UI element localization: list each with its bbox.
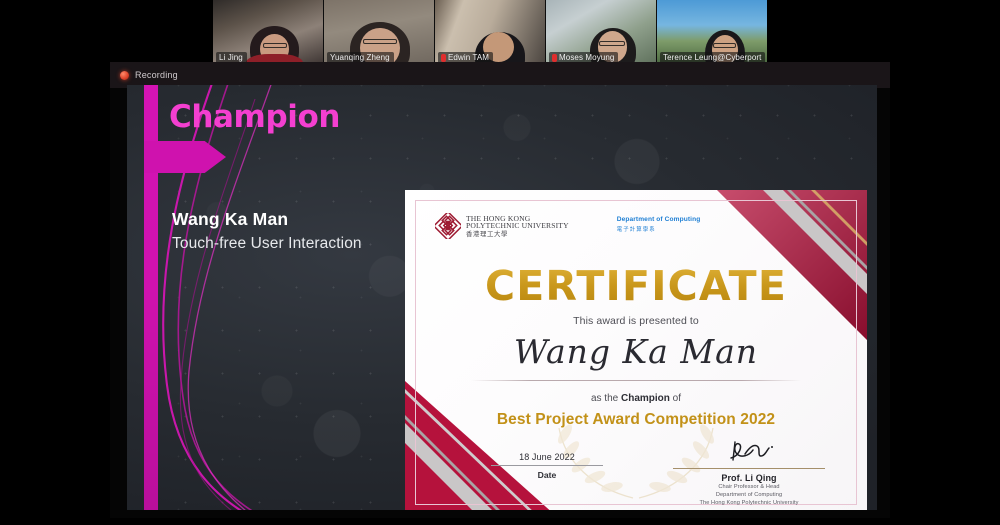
rank-value: Champion — [621, 393, 670, 404]
participant-tile[interactable]: Li Jing — [213, 0, 323, 66]
recording-label: Recording — [135, 70, 178, 80]
certificate-recipient-name: Wang Ka Man — [405, 332, 867, 371]
certificate-date-label: Date — [491, 470, 603, 480]
mic-muted-icon — [552, 54, 557, 62]
decorative-shape — [713, 43, 736, 48]
department-name: Department of Computing — [617, 216, 701, 223]
signatory-organization: The Hong Kong Polytechnic University — [673, 499, 825, 507]
participant-tile[interactable]: Edwin TAM — [435, 0, 545, 66]
certificate-date-value: 18 June 2022 — [491, 452, 603, 462]
certificate-divider — [471, 380, 801, 381]
zoom-share-window: Recording Champion Wang Ka Man Touch-fre… — [110, 62, 890, 518]
certificate: THE HONG KONG POLYTECHNIC UNIVERSITY 香港理… — [405, 190, 867, 510]
winner-name: Wang Ka Man — [172, 209, 288, 230]
certificate-rank-line: as the Champion of — [405, 393, 867, 404]
screen: Li Jing Yuanqing Zheng Edwin TAM — [0, 0, 1000, 525]
decorative-shape — [599, 41, 625, 46]
polyu-logo-icon — [435, 213, 461, 239]
signature-underline — [673, 468, 825, 469]
signatory-department: Department of Computing — [673, 491, 825, 499]
date-underline — [491, 465, 603, 466]
participant-tile[interactable]: Terence Leung@Cyberport — [657, 0, 767, 66]
certificate-title: CERTIFICATE — [405, 262, 867, 310]
record-dot-icon — [120, 71, 129, 80]
project-title: Touch-free User Interaction — [172, 235, 362, 253]
decorative-shape — [263, 43, 287, 48]
certificate-award-name: Best Project Award Competition 2022 — [405, 411, 867, 429]
signatory-name: Prof. Li Qing — [673, 473, 825, 483]
certificate-date-block: 18 June 2022 Date — [491, 452, 603, 480]
signatory-title: Chair Professor & Head — [673, 483, 825, 491]
participant-tile[interactable]: Moses Moyung — [546, 0, 656, 66]
certificate-header: THE HONG KONG POLYTECHNIC UNIVERSITY 香港理… — [435, 213, 835, 239]
slide-heading: Champion — [169, 99, 340, 135]
mic-muted-icon — [441, 54, 446, 62]
polyu-wordmark: THE HONG KONG POLYTECHNIC UNIVERSITY 香港理… — [466, 215, 569, 238]
university-name-chinese: 香港理工大學 — [466, 231, 569, 238]
participant-video-strip: Li Jing Yuanqing Zheng Edwin TAM — [213, 0, 767, 66]
certificate-presented-text: This award is presented to — [405, 315, 867, 327]
presentation-slide: Champion Wang Ka Man Touch-free User Int… — [127, 85, 877, 510]
participant-tile[interactable]: Yuanqing Zheng — [324, 0, 434, 66]
rank-suffix: of — [670, 393, 681, 404]
signature-icon — [673, 440, 825, 462]
department-lockup: Department of Computing 電子計算學系 — [617, 216, 701, 233]
certificate-signature-block: Prof. Li Qing Chair Professor & Head Dep… — [673, 440, 825, 507]
department-name-chinese: 電子計算學系 — [617, 225, 701, 233]
decorative-shape — [363, 39, 397, 44]
polyu-logo-lockup: THE HONG KONG POLYTECHNIC UNIVERSITY 香港理… — [435, 213, 569, 239]
rank-prefix: as the — [591, 393, 621, 404]
